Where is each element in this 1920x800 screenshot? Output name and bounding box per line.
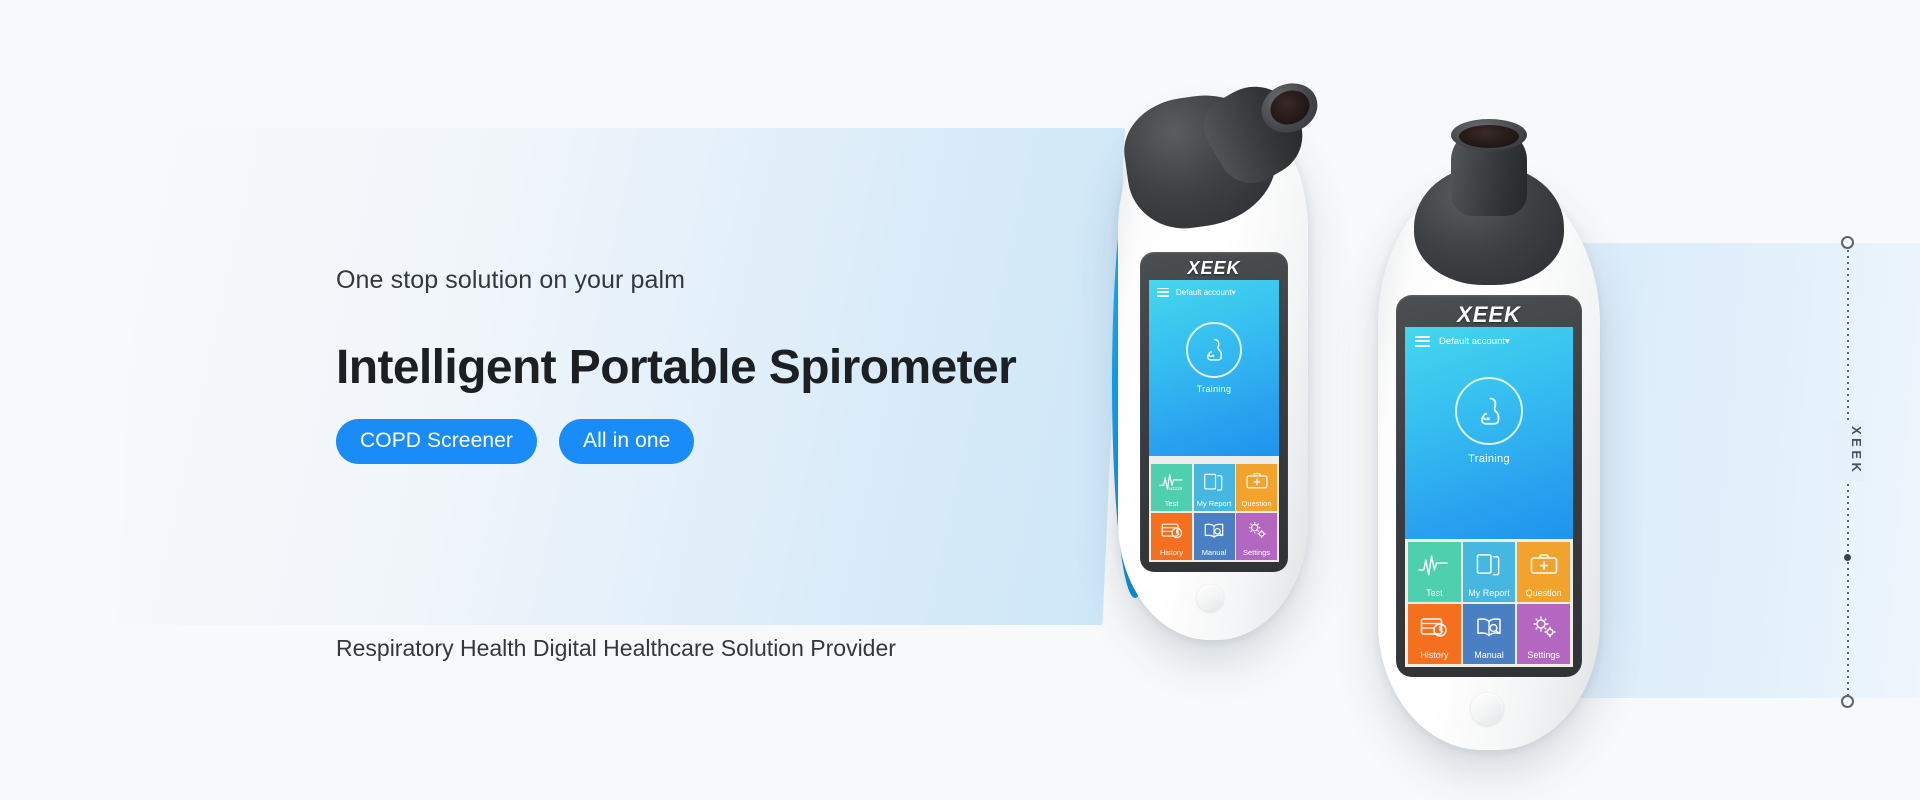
tile-history[interactable]: History	[1408, 604, 1461, 665]
training-shortcut[interactable]: Training	[1149, 322, 1279, 394]
training-label: Training	[1468, 453, 1510, 465]
tile-label: Manual	[1463, 650, 1516, 664]
svg-text:\u2228: \u2228	[1168, 486, 1182, 491]
tile-settings[interactable]: Settings	[1517, 604, 1570, 665]
tile-label: Test	[1408, 588, 1461, 602]
screen-topbar: Default account▾	[1405, 327, 1573, 355]
indicator-active-dot[interactable]	[1844, 554, 1851, 561]
tile-my-report[interactable]: My Report	[1194, 464, 1235, 511]
tile-question[interactable]: Question	[1517, 542, 1570, 602]
chevron-down-icon: ▾	[1232, 288, 1236, 297]
badge-all-in-one[interactable]: All in one	[559, 419, 694, 464]
lung-icon	[1186, 322, 1242, 378]
tile-label: Manual	[1194, 548, 1235, 560]
medkit-icon	[1236, 464, 1277, 499]
account-selector[interactable]: Default account▾	[1176, 288, 1236, 297]
gears-icon	[1236, 513, 1277, 548]
spirometer-device-front[interactable]: XEEK Default account▾	[1378, 175, 1600, 750]
tile-label: My Report	[1463, 588, 1516, 602]
account-label: Default account	[1439, 336, 1505, 347]
training-shortcut[interactable]: Training	[1405, 377, 1573, 465]
device-screen[interactable]: Default account▾ Training	[1149, 280, 1279, 562]
device-brand-logo: XEEK	[1396, 302, 1582, 328]
documents-icon	[1463, 542, 1516, 588]
badge-copd-screener[interactable]: COPD Screener	[336, 419, 537, 464]
gears-icon	[1517, 604, 1570, 651]
background-panel-right	[1610, 243, 1920, 698]
tile-history[interactable]: History	[1151, 513, 1192, 560]
book-icon	[1463, 604, 1516, 651]
home-button[interactable]	[1197, 585, 1223, 611]
screen-topbar: Default account▾	[1149, 280, 1279, 304]
history-icon	[1151, 513, 1192, 548]
hero-eyebrow: One stop solution on your palm	[336, 266, 685, 295]
device-brand-logo: XEEK	[1140, 258, 1288, 279]
device-screen[interactable]: Default account▾ Training	[1405, 327, 1573, 667]
indicator-cap-bottom[interactable]	[1841, 695, 1854, 708]
screen-hero-panel: Default account▾ Training	[1149, 280, 1279, 456]
tile-test[interactable]: Test	[1408, 542, 1461, 602]
tile-label: History	[1151, 548, 1192, 560]
tile-label: History	[1408, 650, 1461, 664]
mouthpiece-opening	[1459, 125, 1519, 148]
tile-label: Question	[1236, 499, 1277, 511]
spirometer-device-back[interactable]: XEEK Default account▾	[1118, 100, 1308, 640]
page-title: Intelligent Portable Spirometer	[336, 340, 1016, 395]
book-icon	[1194, 513, 1235, 548]
chevron-down-icon: ▾	[1505, 336, 1510, 347]
history-icon	[1408, 604, 1461, 651]
tile-test[interactable]: \u2228 Test	[1151, 464, 1192, 511]
badge-group: COPD Screener All in one	[336, 419, 694, 464]
account-label: Default account	[1176, 288, 1232, 297]
tile-label: My Report	[1194, 499, 1235, 511]
tile-my-report[interactable]: My Report	[1463, 542, 1516, 602]
ecg-icon: \u2228	[1151, 464, 1192, 499]
tile-label: Settings	[1517, 650, 1570, 664]
app-tile-grid: \u2228 Test My Report	[1149, 462, 1279, 562]
screen-hero-panel: Default account▾ Training	[1405, 327, 1573, 539]
tile-manual[interactable]: Manual	[1463, 604, 1516, 665]
app-tile-grid: Test My Report	[1405, 539, 1573, 667]
indicator-cap-top[interactable]	[1841, 236, 1854, 249]
carousel-indicator[interactable]: XEEK	[1836, 236, 1860, 708]
brand-vertical-label: XEEK	[1832, 420, 1864, 481]
hero-copy: One stop solution on your palm Intellige…	[336, 0, 1096, 800]
tile-label: Test	[1151, 499, 1192, 511]
tile-manual[interactable]: Manual	[1194, 513, 1235, 560]
lung-icon	[1455, 377, 1523, 445]
training-label: Training	[1197, 384, 1232, 394]
tile-question[interactable]: Question	[1236, 464, 1277, 511]
hamburger-icon[interactable]	[1157, 288, 1169, 297]
hamburger-icon[interactable]	[1415, 336, 1430, 347]
ecg-icon	[1408, 542, 1461, 588]
account-selector[interactable]: Default account▾	[1439, 336, 1510, 347]
home-button[interactable]	[1471, 693, 1503, 725]
hero-banner: One stop solution on your palm Intellige…	[0, 0, 1920, 800]
tile-label: Question	[1517, 588, 1570, 602]
medkit-icon	[1517, 542, 1570, 588]
tile-settings[interactable]: Settings	[1236, 513, 1277, 560]
tile-label: Settings	[1236, 548, 1277, 560]
documents-icon	[1194, 464, 1235, 499]
hero-tagline: Respiratory Health Digital Healthcare So…	[336, 635, 896, 662]
